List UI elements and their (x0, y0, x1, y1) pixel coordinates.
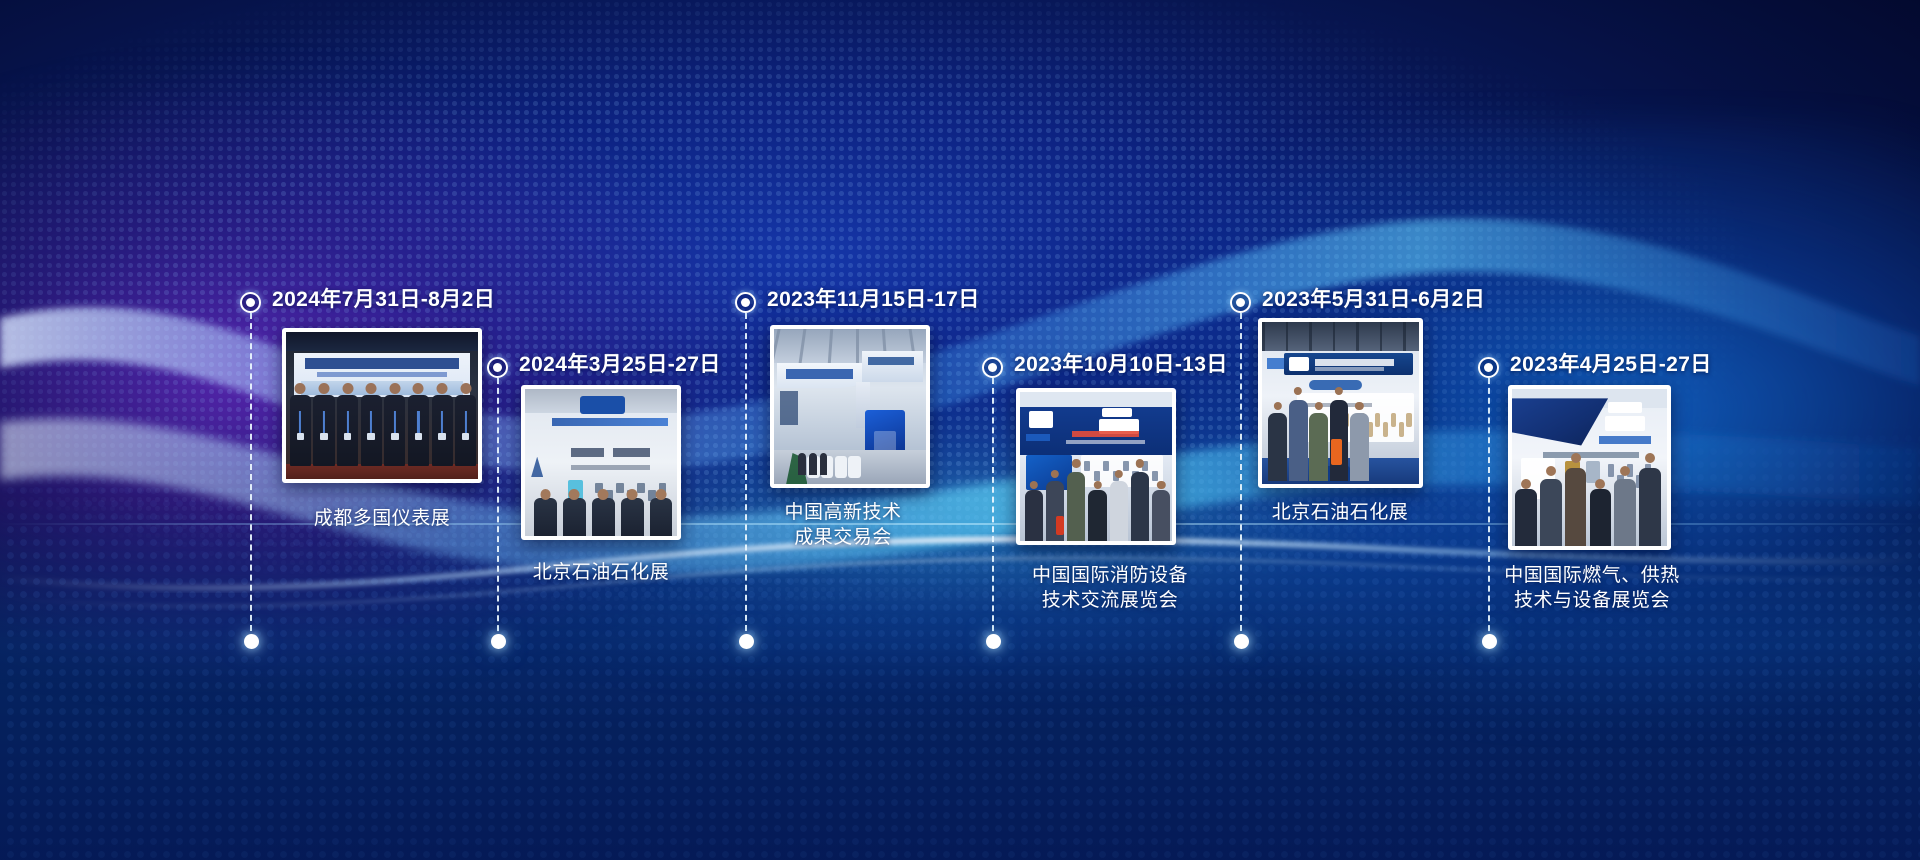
timeline-entry[interactable]: 2023年4月25日-27日 中国国际燃气、供热 技术与设备展览会 (0, 0, 1920, 860)
exhibition-timeline: 2024年7月31日-8月2日 (0, 0, 1920, 860)
exhibition-photo[interactable] (1508, 385, 1671, 550)
exhibition-caption: 中国国际燃气、供热 技术与设备展览会 (1504, 563, 1680, 614)
timeline-date-label: 2023年4月25日-27日 (1510, 348, 1712, 378)
timeline-connector-line (1488, 378, 1490, 641)
timeline-baseline-dot[interactable] (1482, 634, 1497, 649)
photo-scene (1512, 389, 1667, 546)
timeline-marker-icon[interactable] (1478, 357, 1499, 378)
